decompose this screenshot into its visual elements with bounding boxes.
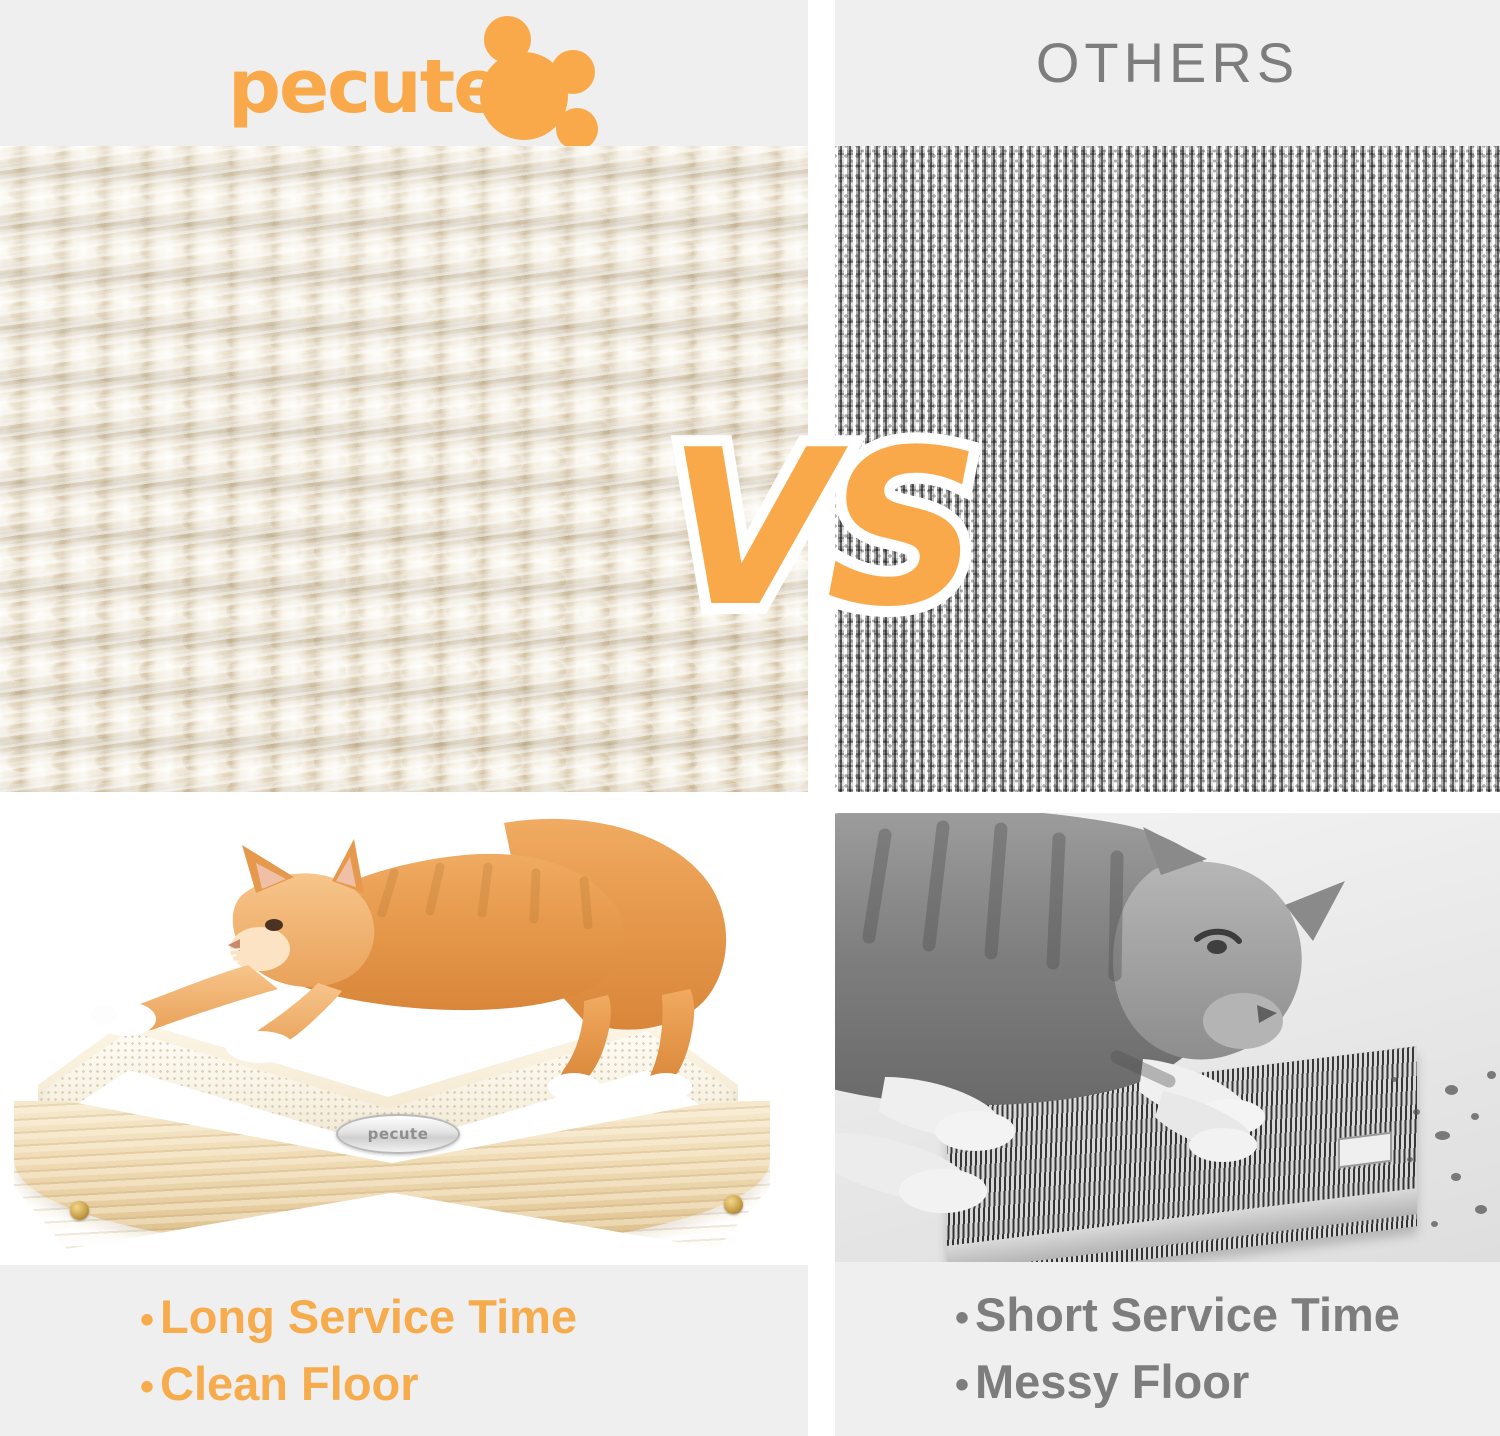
cardboard-debris — [1487, 1071, 1496, 1079]
list-item-label: Clean Floor — [160, 1351, 419, 1418]
nameplate-text: pecute — [368, 1125, 429, 1143]
caption-others-drawbacks: • Short Service Time • Messy Floor — [835, 1262, 1500, 1436]
comparison-infographic: pecute OTHERS VS — [0, 0, 1500, 1436]
list-item: • Clean Floor — [140, 1351, 808, 1418]
sisal-weave-texture — [0, 146, 808, 792]
bullet-dot-icon: • — [140, 1367, 154, 1407]
caption-pecute-benefits: • Long Service Time • Clean Floor — [0, 1265, 808, 1436]
greyscale-scene — [835, 813, 1500, 1262]
list-item: • Long Service Time — [140, 1284, 808, 1351]
panel-pecute-product — [0, 815, 808, 1265]
list-item-label: Messy Floor — [975, 1349, 1249, 1416]
cardboard-debris — [1451, 1173, 1461, 1181]
bullet-dot-icon: • — [955, 1365, 969, 1405]
benefit-list-right: • Short Service Time • Messy Floor — [835, 1262, 1500, 1436]
horizontal-divider-left — [0, 792, 808, 815]
others-heading: OTHERS — [835, 0, 1500, 146]
product-nameplate-badge: pecute — [336, 1114, 460, 1154]
list-item-label: Long Service Time — [160, 1284, 577, 1351]
panel-pecute-sisal — [0, 146, 808, 792]
orange-tabby-cat-illustration — [64, 815, 764, 1105]
horizontal-divider-right — [835, 792, 1500, 813]
benefit-list-left: • Long Service Time • Clean Floor — [0, 1265, 808, 1436]
corrugated-cardboard-texture — [835, 146, 1500, 792]
brass-screw-right — [724, 1195, 743, 1214]
panel-others-product — [835, 813, 1500, 1262]
pecute-logo: pecute — [228, 14, 588, 134]
list-item: • Messy Floor — [955, 1349, 1500, 1416]
cardboard-debris — [1445, 1085, 1458, 1095]
cardboard-debris — [1475, 1205, 1487, 1214]
list-item-label: Short Service Time — [975, 1282, 1400, 1349]
bullet-dot-icon: • — [140, 1300, 154, 1340]
paw-toe-icon-1 — [484, 16, 531, 63]
brand-wordmark: pecute — [228, 50, 501, 124]
product-scene — [0, 815, 808, 1265]
paw-toe-icon-3 — [556, 108, 598, 150]
panel-others-cardboard — [835, 146, 1500, 792]
brass-screw-left — [70, 1201, 89, 1220]
grey-cat-illustration — [835, 813, 1445, 1239]
header-bar: pecute OTHERS — [0, 0, 1500, 146]
cardboard-debris — [1471, 1113, 1479, 1120]
paw-toe-icon-2 — [551, 50, 595, 94]
vertical-divider — [808, 0, 835, 1436]
list-item: • Short Service Time — [955, 1282, 1500, 1349]
bullet-dot-icon: • — [955, 1298, 969, 1338]
